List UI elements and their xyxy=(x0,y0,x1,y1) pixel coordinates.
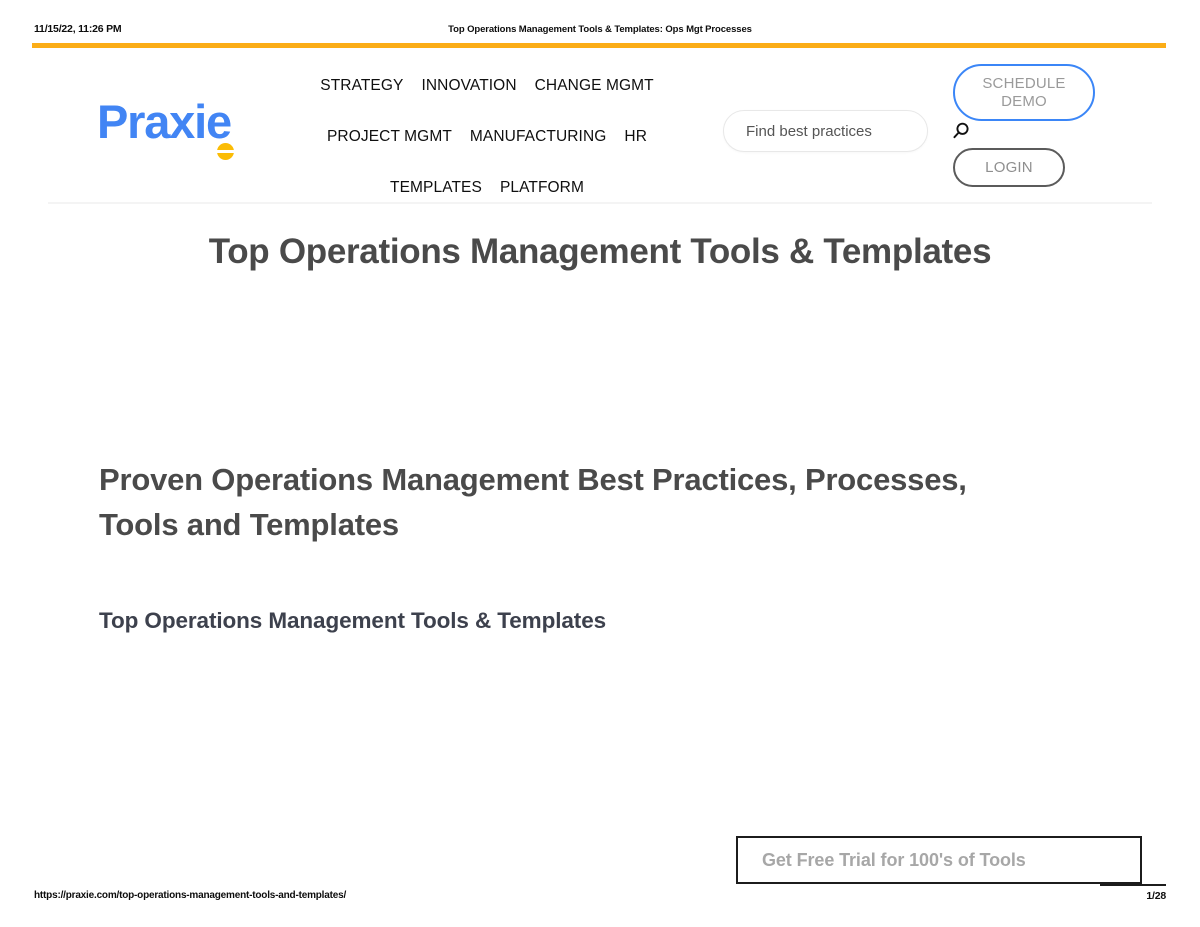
nav-row-1: STRATEGY INNOVATION CHANGE MGMT xyxy=(287,60,687,111)
site-header: Praxie STRATEGY INNOVATION CHANGE MGMT P… xyxy=(32,50,1166,202)
hero-subheading: Top Operations Management Tools & Templa… xyxy=(99,608,999,634)
printed-page: 11/15/22, 11:26 PM Top Operations Manage… xyxy=(0,0,1200,927)
print-header: 11/15/22, 11:26 PM Top Operations Manage… xyxy=(0,20,1200,38)
search-input[interactable] xyxy=(744,122,947,141)
nav-item-project-mgmt[interactable]: PROJECT MGMT xyxy=(327,128,452,146)
header-divider xyxy=(48,202,1152,204)
logo-text: Praxie xyxy=(97,95,231,148)
orange-divider xyxy=(32,43,1166,48)
print-document-title: Top Operations Management Tools & Templa… xyxy=(0,24,1200,35)
free-trial-cta-label: Get Free Trial for 100's of Tools xyxy=(762,850,1026,871)
nav-item-manufacturing[interactable]: MANUFACTURING xyxy=(470,128,607,146)
main-navigation: STRATEGY INNOVATION CHANGE MGMT PROJECT … xyxy=(287,60,687,213)
praxie-logo[interactable]: Praxie xyxy=(97,98,231,145)
nav-item-templates[interactable]: TEMPLATES xyxy=(390,179,482,197)
page-title: Top Operations Management Tools & Templa… xyxy=(0,232,1200,272)
schedule-demo-label-line1: SCHEDULE xyxy=(982,75,1065,93)
login-label: LOGIN xyxy=(985,159,1033,176)
nav-item-platform[interactable]: PLATFORM xyxy=(500,179,584,197)
nav-item-change-mgmt[interactable]: CHANGE MGMT xyxy=(535,77,654,95)
search-box[interactable] xyxy=(723,110,928,152)
print-source-url: https://praxie.com/top-operations-manage… xyxy=(34,890,346,901)
hero-heading: Proven Operations Management Best Practi… xyxy=(99,458,999,548)
nav-item-hr[interactable]: HR xyxy=(624,128,647,146)
free-trial-cta[interactable]: Get Free Trial for 100's of Tools xyxy=(736,836,1142,884)
schedule-demo-button[interactable]: SCHEDULE DEMO xyxy=(953,64,1095,121)
search-icon[interactable] xyxy=(951,121,971,141)
footer-divider xyxy=(1100,884,1166,886)
nav-row-3: TEMPLATES PLATFORM xyxy=(287,162,687,213)
nav-item-strategy[interactable]: STRATEGY xyxy=(320,77,403,95)
login-button[interactable]: LOGIN xyxy=(953,148,1065,187)
print-footer: https://praxie.com/top-operations-manage… xyxy=(0,890,1200,906)
print-page-number: 1/28 xyxy=(1146,890,1166,902)
sun-dot-icon xyxy=(217,143,234,160)
schedule-demo-label-line2: DEMO xyxy=(1001,93,1047,111)
nav-row-2: PROJECT MGMT MANUFACTURING HR xyxy=(287,111,687,162)
nav-item-innovation[interactable]: INNOVATION xyxy=(421,77,516,95)
